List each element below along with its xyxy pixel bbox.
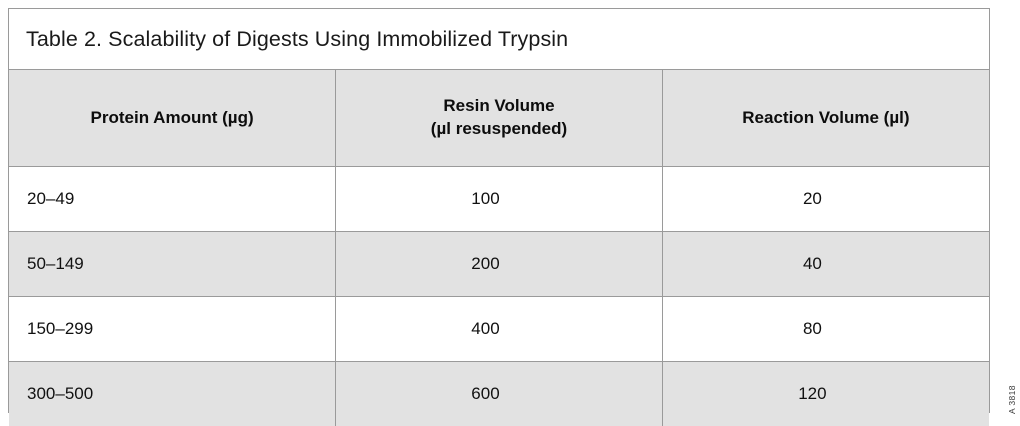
data-table-container: Table 2. Scalability of Digests Using Im…	[8, 8, 990, 413]
cell-reaction-volume: 40	[662, 232, 989, 297]
cell-reaction-volume: 20	[662, 167, 989, 232]
column-header-protein-amount: Protein Amount (µg)	[9, 70, 336, 167]
table-row: 20–49 100 20	[9, 167, 989, 232]
cell-resin-volume: 400	[336, 297, 663, 362]
table-title: Table 2. Scalability of Digests Using Im…	[9, 9, 989, 70]
cell-protein-amount: 20–49	[9, 167, 336, 232]
scalability-table: Table 2. Scalability of Digests Using Im…	[9, 9, 989, 426]
cell-reaction-volume: 120	[662, 362, 989, 426]
page-canvas: Table 2. Scalability of Digests Using Im…	[0, 0, 1020, 420]
table-row: 50–149 200 40	[9, 232, 989, 297]
column-header-protein-amount-line1: Protein Amount (µg)	[91, 108, 254, 127]
column-header-resin-volume-line2: (µl resuspended)	[344, 118, 654, 141]
cell-resin-volume: 200	[336, 232, 663, 297]
table-header-row: Protein Amount (µg) Resin Volume (µl res…	[9, 70, 989, 167]
table-row: 150–299 400 80	[9, 297, 989, 362]
column-header-reaction-volume: Reaction Volume (µl)	[662, 70, 989, 167]
cell-reaction-volume: 80	[662, 297, 989, 362]
cell-resin-volume: 600	[336, 362, 663, 426]
cell-protein-amount: 300–500	[9, 362, 336, 426]
column-header-reaction-volume-line1: Reaction Volume (µl)	[742, 108, 909, 127]
column-header-resin-volume-line1: Resin Volume	[443, 96, 554, 115]
table-title-row: Table 2. Scalability of Digests Using Im…	[9, 9, 989, 70]
cell-resin-volume: 100	[336, 167, 663, 232]
artwork-id-label: A 3818	[1005, 356, 1019, 414]
column-header-resin-volume: Resin Volume (µl resuspended)	[336, 70, 663, 167]
table-row: 300–500 600 120	[9, 362, 989, 426]
cell-protein-amount: 150–299	[9, 297, 336, 362]
cell-protein-amount: 50–149	[9, 232, 336, 297]
